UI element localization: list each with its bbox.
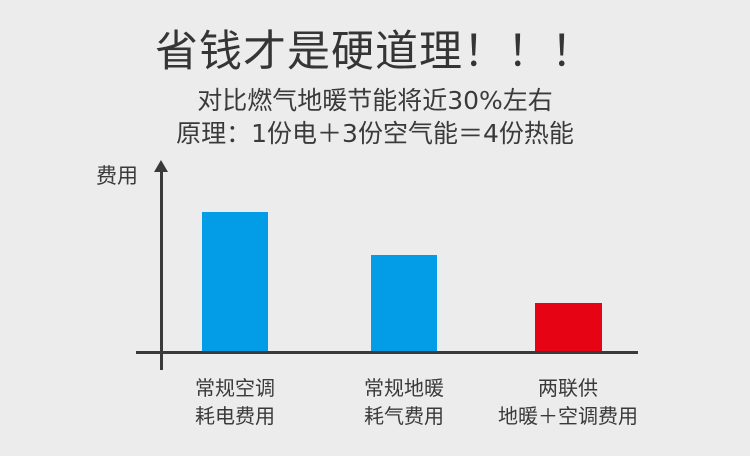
poster-canvas: 省钱才是硬道理！！！ 对比燃气地暖节能将近30%左右 原理：1份电＋3份空气能＝… (0, 0, 750, 456)
x-axis-line (136, 351, 638, 354)
x-axis-label-line-2: 耗气费用 (324, 402, 484, 430)
x-axis-label-conventional-floor-heating: 常规地暖 耗气费用 (324, 374, 484, 430)
bar-two-in-one-system (535, 303, 602, 351)
x-axis-label-conventional-ac: 常规空调 耗电费用 (155, 374, 315, 430)
bar-conventional-ac (202, 212, 268, 351)
x-axis-label-line-2: 地暖＋空调费用 (468, 402, 668, 430)
x-axis-label-line-1: 常规地暖 (324, 374, 484, 402)
x-axis-label-line-1: 两联供 (468, 374, 668, 402)
y-axis-label: 费用 (96, 163, 138, 189)
bar-chart: 费用 常规空调 耗电费用 常规地暖 耗气费用 两联供 地暖＋空调费用 (0, 0, 750, 456)
bar-conventional-floor-heating (371, 255, 437, 351)
x-axis-label-line-2: 耗电费用 (155, 402, 315, 430)
x-axis-label-two-in-one-system: 两联供 地暖＋空调费用 (468, 374, 668, 430)
y-axis-line (160, 170, 163, 370)
x-axis-label-line-1: 常规空调 (155, 374, 315, 402)
